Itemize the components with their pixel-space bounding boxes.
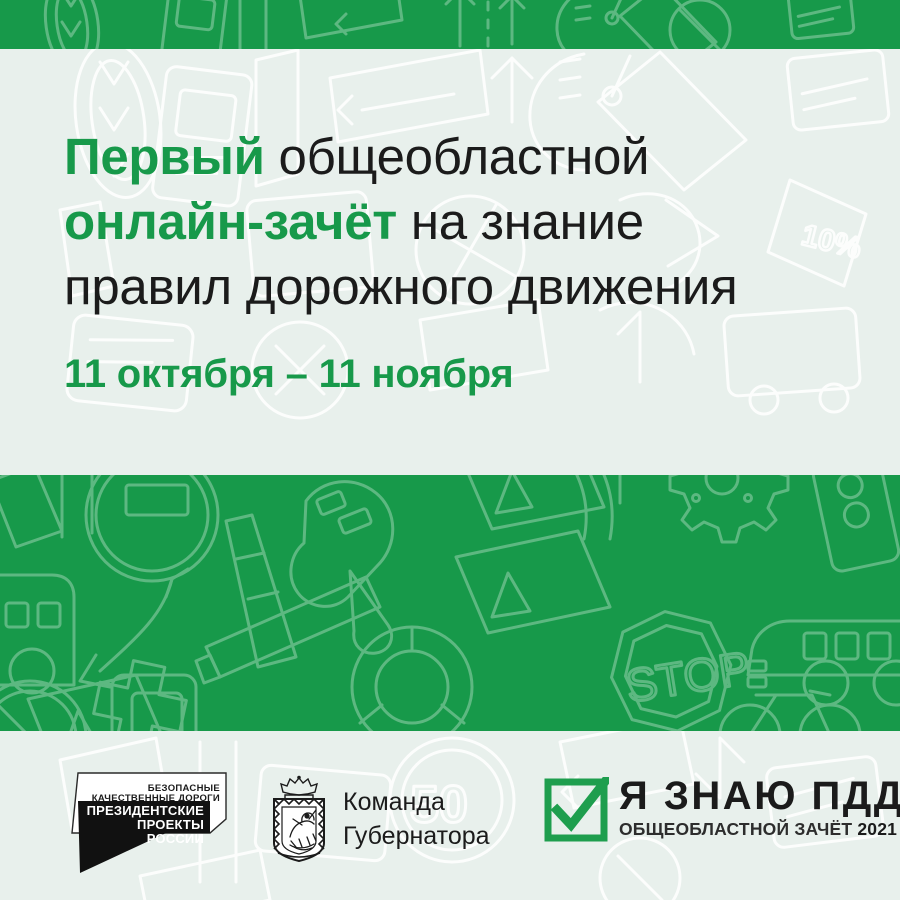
logo-governor-team: Команда Губернатора — [268, 769, 498, 869]
governor-line-2: Губернатора — [343, 819, 490, 853]
middle-band-doodles: STOP — [0, 475, 900, 731]
middle-green-band: STOP — [0, 475, 900, 731]
headline-accent-online: онлайн-зачёт — [64, 193, 397, 250]
page-title: Первый общеобластной онлайн-зачёт на зна… — [64, 124, 864, 319]
headline-line-2-rest: на знание — [397, 193, 644, 250]
coat-of-arms-icon — [268, 775, 330, 863]
headline-line-2: онлайн-зачёт на знание — [64, 189, 864, 254]
headline-line-1: Первый общеобластной — [64, 124, 864, 189]
logo-bkd-presidential-projects: БЕЗОПАСНЫЕ КАЧЕСТВЕННЫЕ ДОРОГИ ПРЕЗИДЕНТ… — [70, 767, 250, 875]
bkd-black-line-3: РОССИИ — [147, 831, 204, 846]
governor-line-1: Команда — [343, 785, 490, 819]
headline-line-3: правил дорожного движения — [64, 254, 864, 319]
logo-i-know-pdd: Я ЗНАЮ ПДД ОБЩЕОБЛАСТНОЙ ЗАЧЁТ 2021 — [543, 775, 863, 861]
pdd-year: 2021 — [857, 819, 897, 839]
bkd-black-line-1: ПРЕЗИДЕНТСКИЕ — [87, 803, 205, 818]
poster-canvas: 10% 50 — [0, 0, 900, 900]
pdd-subtitle: ОБЩЕОБЛАСТНОЙ ЗАЧЁТ 2021 — [619, 819, 900, 839]
top-green-band — [0, 0, 900, 49]
bkd-black-line-2: ПРОЕКТЫ — [137, 817, 204, 832]
checkbox-check-icon — [543, 777, 609, 843]
headline-line-1-rest: общеобластной — [265, 128, 650, 185]
top-band-doodles — [0, 0, 900, 49]
svg-text:STOP: STOP — [623, 641, 754, 712]
date-range: 11 октября – 11 ноября — [64, 352, 514, 397]
footer-logo-row: БЕЗОПАСНЫЕ КАЧЕСТВЕННЫЕ ДОРОГИ ПРЕЗИДЕНТ… — [0, 731, 900, 900]
pdd-subtitle-text: ОБЩЕОБЛАСТНОЙ ЗАЧЁТ — [619, 819, 852, 839]
pdd-title: Я ЗНАЮ ПДД — [619, 775, 900, 817]
pdd-logo-text: Я ЗНАЮ ПДД ОБЩЕОБЛАСТНОЙ ЗАЧЁТ 2021 — [619, 775, 900, 839]
governor-logo-text: Команда Губернатора — [343, 785, 490, 853]
headline-accent-first: Первый — [64, 128, 265, 185]
